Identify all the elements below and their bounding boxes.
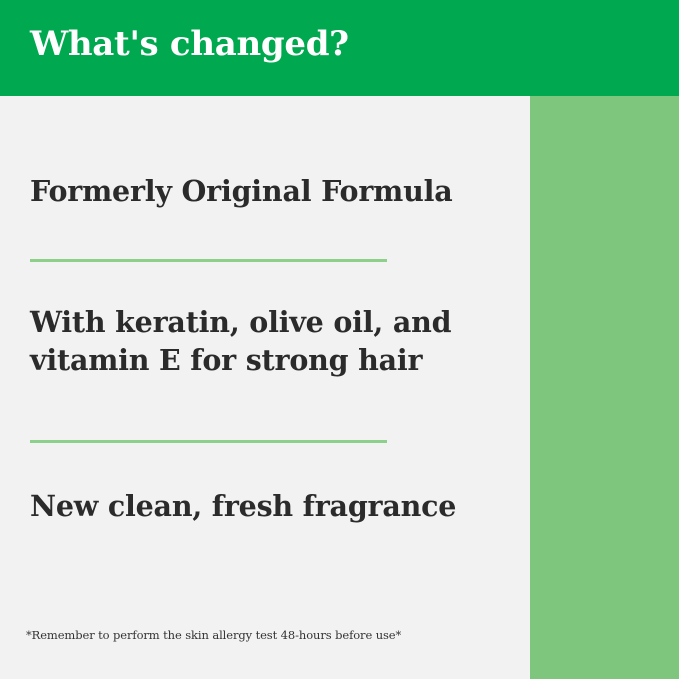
feature-item-1: Formerly Original Formula bbox=[30, 172, 500, 210]
content-panel: Formerly Original Formula With keratin, … bbox=[0, 96, 530, 679]
divider-2 bbox=[30, 440, 387, 443]
right-green-band bbox=[530, 0, 679, 679]
feature-item-2: With keratin, olive oil, and vitamin E f… bbox=[30, 303, 500, 379]
page-title: What's changed? bbox=[30, 22, 349, 66]
product-info-card: What's changed? Formerly Original Formul… bbox=[0, 0, 679, 679]
divider-1 bbox=[30, 259, 387, 262]
header-bar: What's changed? bbox=[0, 0, 679, 96]
footnote-text: *Remember to perform the skin allergy te… bbox=[26, 627, 506, 643]
feature-item-3: New clean, fresh fragrance bbox=[30, 487, 500, 525]
